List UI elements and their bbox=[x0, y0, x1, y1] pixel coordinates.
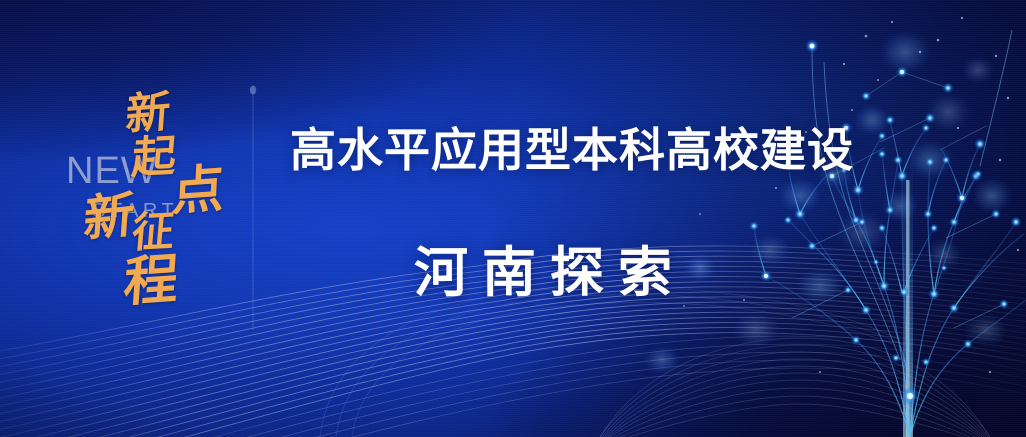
background-vignette bbox=[0, 0, 1026, 437]
banner-root: NEW START 新 起 点 新 征 程 高水平应用型本科高校建设 河南探索 bbox=[0, 0, 1026, 437]
